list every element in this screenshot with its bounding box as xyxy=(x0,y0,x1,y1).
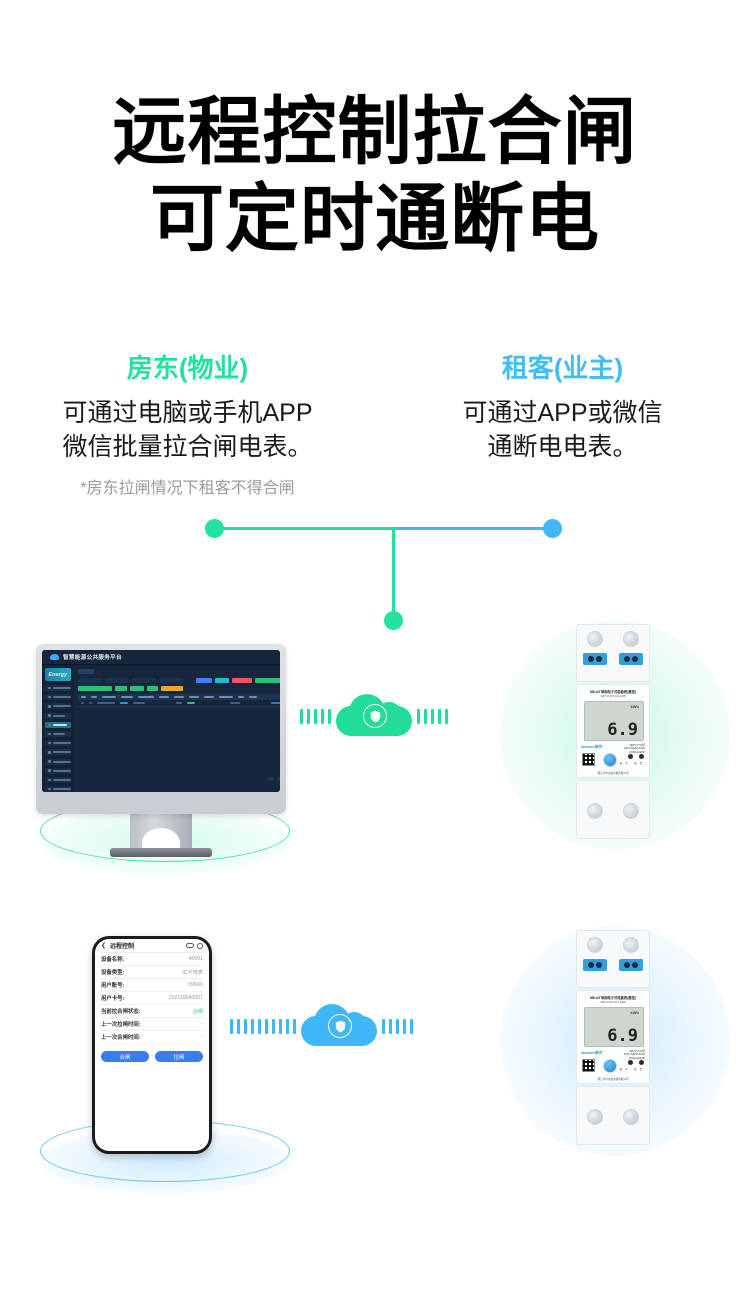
meter-top-block xyxy=(576,624,650,682)
row-label: 用户账号: xyxy=(101,981,124,989)
sidebar-item-4-active[interactable] xyxy=(45,722,71,728)
qr-code-icon xyxy=(582,1059,595,1072)
meter-bottom-block xyxy=(576,1086,650,1145)
meter-lcd: kWh 6.9 xyxy=(584,701,644,741)
energy-meter: NB-IoT单相电子式电能表(费控) GB/T17215.321-2008 kW… xyxy=(576,624,650,839)
column-tenant-body-line2: 通断电电表。 xyxy=(375,430,750,465)
row-value: 398A6 xyxy=(188,982,203,988)
meter-label-line1: NB-IoT单相电子式电能表(费控) xyxy=(577,689,649,694)
sidebar-item-0[interactable] xyxy=(45,685,71,691)
pager-page-1[interactable] xyxy=(277,777,281,781)
meter-led-row xyxy=(628,754,644,759)
connector-line-down xyxy=(392,527,395,621)
sidebar-item-11[interactable] xyxy=(45,786,71,792)
meter-label-line2: GB/T17215.321-2008 xyxy=(577,695,649,698)
meter-lcd-unit: kWh xyxy=(631,704,639,709)
row-label: 设备类型: xyxy=(101,968,124,976)
sidebar-item-1[interactable] xyxy=(45,694,71,700)
meter-face: NB-IoT单相电子式电能表(费控) GB/T17215.321-2008 kW… xyxy=(576,684,650,778)
phone-dashes-left xyxy=(230,1019,296,1034)
list-item: 上一次合闸时间: - xyxy=(101,1031,203,1044)
more-dots-icon[interactable] xyxy=(186,943,194,948)
meter-brand: zhuoer卓尔 xyxy=(581,1050,602,1056)
sidebar-item-8[interactable] xyxy=(45,759,71,765)
column-landlord-title: 房东(物业) xyxy=(0,352,375,386)
list-item: 设备名称: 40001 xyxy=(101,953,203,966)
row-label: 设备名称: xyxy=(101,955,124,963)
meter-lcd: kWh 6.9 xyxy=(584,1007,644,1047)
meter-terminal-left xyxy=(583,653,607,665)
qr-code-icon xyxy=(582,753,595,766)
meter-bottom-block xyxy=(576,780,650,839)
meter-terminal-row-top xyxy=(577,653,649,665)
meter-screw-top-right xyxy=(623,937,639,953)
pc-cloud-link xyxy=(300,692,448,740)
page-headline: 远程控制拉合闸 可定时通断电 xyxy=(0,88,750,263)
round-button-icon[interactable] xyxy=(603,1059,617,1073)
meter-lcd-reading: 6.9 xyxy=(607,1028,638,1045)
phone-screen: ❮ 远程控制 设备名称: 40001 设备类型: IC卡电表 用户账号: 398… xyxy=(95,939,209,1151)
list-item: 用户账号: 398A6 xyxy=(101,979,203,992)
dashboard-logo: Energy xyxy=(45,668,71,681)
meter-led-pulse xyxy=(628,754,633,759)
column-landlord-body-line2: 微信批量拉合闸电表。 xyxy=(0,430,375,465)
blue-cloud xyxy=(301,1002,377,1050)
button-batch-open[interactable] xyxy=(232,678,252,683)
meter-footer: 浙江卓尔仪表仪器有限公司 xyxy=(577,1077,649,1081)
meter-face: NB-IoT单相电子式电能表(费控) GB/T17215.321-2008 kW… xyxy=(576,990,650,1084)
status-badge: 合闸 xyxy=(193,1008,203,1015)
monitor: 智慧能源公共服务平台 Energy xyxy=(36,644,286,814)
dashboard-action-bar[interactable] xyxy=(78,686,281,691)
meter-top-block xyxy=(576,930,650,988)
round-button-icon[interactable] xyxy=(603,753,617,767)
row-value: 202110040001 xyxy=(169,995,203,1001)
row-label: 上一次拉闸时间: xyxy=(101,1020,141,1028)
meter-terminal-row-top xyxy=(577,959,649,971)
column-landlord: 房东(物业) 可通过电脑或手机APP 微信批量拉合闸电表。 *房东拉闸情况下租客… xyxy=(0,352,375,498)
button-batch-settings[interactable] xyxy=(161,686,183,691)
monitor-stand-neck xyxy=(130,814,192,850)
green-cloud xyxy=(336,692,412,740)
sidebar-item-9[interactable] xyxy=(45,768,71,774)
feature-columns: 房东(物业) 可通过电脑或手机APP 微信批量拉合闸电表。 *房东拉闸情况下租客… xyxy=(0,352,750,498)
dashboard-filter-bar[interactable] xyxy=(78,678,281,683)
meter-led-alarm xyxy=(639,754,644,759)
button-download-records[interactable] xyxy=(78,686,112,691)
sidebar-item-6[interactable] xyxy=(45,740,71,746)
button-batch-close[interactable] xyxy=(255,678,281,683)
pc-scene: 智慧能源公共服务平台 Energy xyxy=(0,630,750,890)
meter-label-line2: GB/T17215.321-2008 xyxy=(577,1001,649,1004)
button-query[interactable] xyxy=(196,678,212,683)
target-circle-icon[interactable] xyxy=(197,943,203,949)
connector-dot-bottom xyxy=(384,611,403,630)
pager-prev[interactable] xyxy=(267,777,274,781)
button-export[interactable] xyxy=(115,686,127,691)
pc-dashes-left xyxy=(300,709,331,724)
shield-icon xyxy=(328,1014,352,1038)
table-row[interactable] xyxy=(78,700,281,707)
row-value: IC卡电表 xyxy=(182,969,203,976)
row-value: - xyxy=(201,1021,203,1027)
headline-line-1: 远程控制拉合闸 xyxy=(0,88,750,175)
connector-dot-left xyxy=(205,519,224,538)
sidebar-item-2[interactable] xyxy=(45,703,71,709)
column-tenant: 租客(业主) 可通过APP或微信 通断电电表。 xyxy=(375,352,750,498)
column-tenant-body-line1: 可通过APP或微信 xyxy=(375,396,750,431)
connector-line-left xyxy=(214,527,394,530)
sidebar-item-7[interactable] xyxy=(45,749,71,755)
phone-cloud-link xyxy=(230,1002,413,1050)
meter-led-labels: 脉冲 报警 xyxy=(620,761,645,765)
column-landlord-note: *房东拉闸情况下租客不得合闸 xyxy=(0,474,375,498)
phone-dashes-right xyxy=(382,1019,413,1034)
meter-screw-bottom-right xyxy=(623,1109,639,1125)
dashboard-body: Energy xyxy=(42,665,280,792)
phone-nav-actions[interactable] xyxy=(186,943,203,949)
table-pagination[interactable] xyxy=(78,777,281,781)
row-value: 40001 xyxy=(189,956,203,962)
row-value: - xyxy=(201,1034,203,1040)
row-label: 上一次合闸时间: xyxy=(101,1033,141,1041)
button-refresh[interactable] xyxy=(130,686,144,691)
dashboard-header: 智慧能源公共服务平台 xyxy=(42,650,280,665)
list-item: 设备类型: IC卡电表 xyxy=(101,966,203,979)
close-breaker-button[interactable]: 合闸 xyxy=(101,1051,149,1062)
meter-terminal-left xyxy=(583,959,607,971)
sidebar-item-3[interactable] xyxy=(45,713,71,719)
phone-scene: ❮ 远程控制 设备名称: 40001 设备类型: IC卡电表 用户账号: 398… xyxy=(0,930,750,1200)
button-more[interactable] xyxy=(147,686,158,691)
filter-status[interactable] xyxy=(159,678,183,683)
meter-terminal-right xyxy=(619,959,643,971)
filter-device-no[interactable] xyxy=(78,678,102,683)
cloud-logo-icon xyxy=(50,654,59,660)
row-label: 用户卡号: xyxy=(101,994,124,1002)
meter-led-pulse xyxy=(628,1060,633,1065)
dashboard-sidebar[interactable]: Energy xyxy=(42,665,74,792)
list-item: 当前拉合闸状态: 合闸 xyxy=(101,1005,203,1018)
open-breaker-button[interactable]: 拉闸 xyxy=(155,1051,203,1062)
button-reset[interactable] xyxy=(215,678,229,683)
connector-line-right xyxy=(393,527,553,530)
meter-brand: zhuoer卓尔 xyxy=(581,744,602,750)
meter-led-alarm xyxy=(639,1060,644,1065)
shield-icon xyxy=(363,704,387,728)
pc-dashes-right xyxy=(417,709,448,724)
list-item: 上一次拉闸时间: - xyxy=(101,1018,203,1031)
meter-screw-top-left xyxy=(587,937,603,953)
meter-terminal-right xyxy=(619,653,643,665)
sidebar-item-10[interactable] xyxy=(45,777,71,783)
phone-nav-title: 远程控制 xyxy=(110,941,182,950)
monitor-screen: 智慧能源公共服务平台 Energy xyxy=(42,650,280,792)
meter-screw-bottom-left xyxy=(587,1109,603,1125)
phone-navbar: ❮ 远程控制 xyxy=(101,939,203,953)
dashboard-app-title: 智慧能源公共服务平台 xyxy=(63,653,122,661)
column-landlord-body-line1: 可通过电脑或手机APP xyxy=(0,396,375,431)
meter-screw-bottom-left xyxy=(587,803,603,819)
dashboard-tab-remote-control[interactable] xyxy=(78,669,94,674)
filter-device-status[interactable] xyxy=(132,678,156,683)
meter-screw-top-right xyxy=(623,631,639,647)
meter-lcd-unit: kWh xyxy=(631,1010,639,1015)
sidebar-item-5[interactable] xyxy=(45,731,71,737)
chevron-left-icon[interactable]: ❮ xyxy=(101,942,106,949)
list-item: 用户卡号: 202110040001 xyxy=(101,992,203,1005)
monitor-stand-foot xyxy=(110,848,212,857)
meter-label-line1: NB-IoT单相电子式电能表(费控) xyxy=(577,995,649,1000)
pc-meter-area: NB-IoT单相电子式电能表(费控) GB/T17215.321-2008 kW… xyxy=(488,602,738,862)
phone-meter-area: NB-IoT单相电子式电能表(费控) GB/T17215.321-2008 kW… xyxy=(488,908,738,1168)
meter-model: DDZY1710型 220V 5(60)A 50Hz 1600imp/kWh xyxy=(624,1050,645,1060)
meter-lcd-reading: 6.9 xyxy=(607,722,638,739)
meter-screw-top-left xyxy=(587,631,603,647)
meter-led-row xyxy=(628,1060,644,1065)
phone: ❮ 远程控制 设备名称: 40001 设备类型: IC卡电表 用户账号: 398… xyxy=(92,936,212,1154)
meter-model: DDZY1710型 220V 5(60)A 50Hz 1600imp/kWh xyxy=(624,744,645,754)
column-tenant-title: 租客(业主) xyxy=(375,352,750,386)
headline-line-2: 可定时通断电 xyxy=(0,175,750,262)
energy-meter: NB-IoT单相电子式电能表(费控) GB/T17215.321-2008 kW… xyxy=(576,930,650,1145)
dashboard-table xyxy=(78,694,281,781)
phone-action-buttons: 合闸 拉闸 xyxy=(101,1051,203,1062)
meter-led-labels: 脉冲 报警 xyxy=(620,1067,645,1071)
filter-user-name[interactable] xyxy=(105,678,129,683)
row-label: 当前拉合闸状态: xyxy=(101,1007,141,1015)
meter-screw-bottom-right xyxy=(623,803,639,819)
dashboard-content xyxy=(74,665,281,792)
meter-footer: 浙江卓尔仪表仪器有限公司 xyxy=(577,771,649,775)
connector-dot-right xyxy=(543,519,562,538)
